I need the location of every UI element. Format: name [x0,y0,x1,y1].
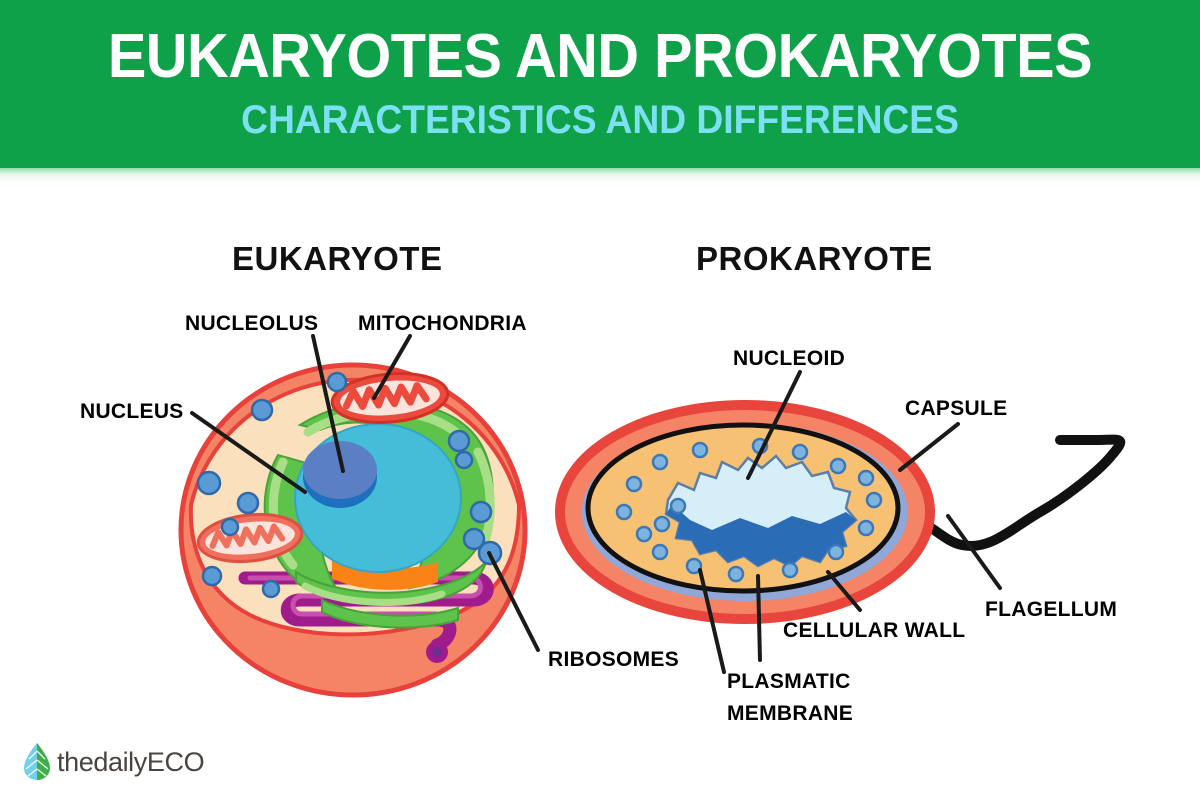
label-nucleus: NUCLEUS [80,398,184,426]
leader-ribosomes-pro [700,570,724,672]
leader-ribosomes [489,553,538,650]
golgi-apparatus [265,401,493,627]
prokaryote-cellular-wall [588,425,898,591]
leader-capsule [900,424,958,470]
leader-nucleoid [748,372,800,478]
nucleoid [666,456,856,566]
header-fade-divider [0,168,1200,182]
eukaryote-leader-lines [192,336,538,650]
mitochondria-left [196,510,304,567]
eukaryote-heading: EUKARYOTE [232,240,442,278]
logo-text: thedailyECO [57,747,204,778]
prokaryote-heading: PROKARYOTE [696,240,933,278]
eukaryote-nucleolus [303,441,377,508]
prokaryote-capsule [560,405,930,619]
label-mitochondria: MITOCHONDRIA [358,310,527,338]
leader-nucleus [192,413,305,492]
leader-flagellum [948,516,1000,588]
flagellum [888,440,1120,546]
leader-cellular-wall [828,572,860,610]
eukaryote-ribosomes [198,373,501,597]
label-nucleolus: NUCLEOLUS [185,310,318,338]
leader-mitochondria [374,336,410,398]
prokaryote-plasmatic-membrane [582,423,908,601]
label-ribosomes: RIBOSOMES [548,646,679,674]
eukaryote-cell-illustration [181,336,538,695]
leaf-droplet-icon [22,742,52,782]
eukaryote-orange-organelle [332,556,438,590]
mitochondria-top [330,369,450,427]
label-nucleoid: NUCLEOID [733,345,845,373]
leader-nucleolus [313,336,343,471]
eukaryote-plasma-membrane [181,365,525,695]
label-flagellum: FLAGELLUM [985,596,1117,624]
eukaryote-nucleus [295,424,461,572]
endoplasmic-reticulum [245,578,487,663]
thedailyeco-logo[interactable]: thedailyECO [22,742,204,782]
label-capsule: CAPSULE [905,395,1007,423]
label-plasmatic-membrane-line1: PLASMATIC [727,668,851,696]
page-title: EUKARYOTES AND PROKARYOTES [42,26,1158,88]
leader-plasmatic-membrane [758,576,760,660]
label-cellular-wall: CELLULAR WALL [783,617,965,645]
eukaryote-cytoplasm [191,380,519,635]
page-subtitle: CHARACTERISTICS AND DIFFERENCES [42,100,1158,140]
prokaryote-ribosomes [617,439,881,581]
label-plasmatic-membrane-line2: MEMBRANE [727,700,853,728]
